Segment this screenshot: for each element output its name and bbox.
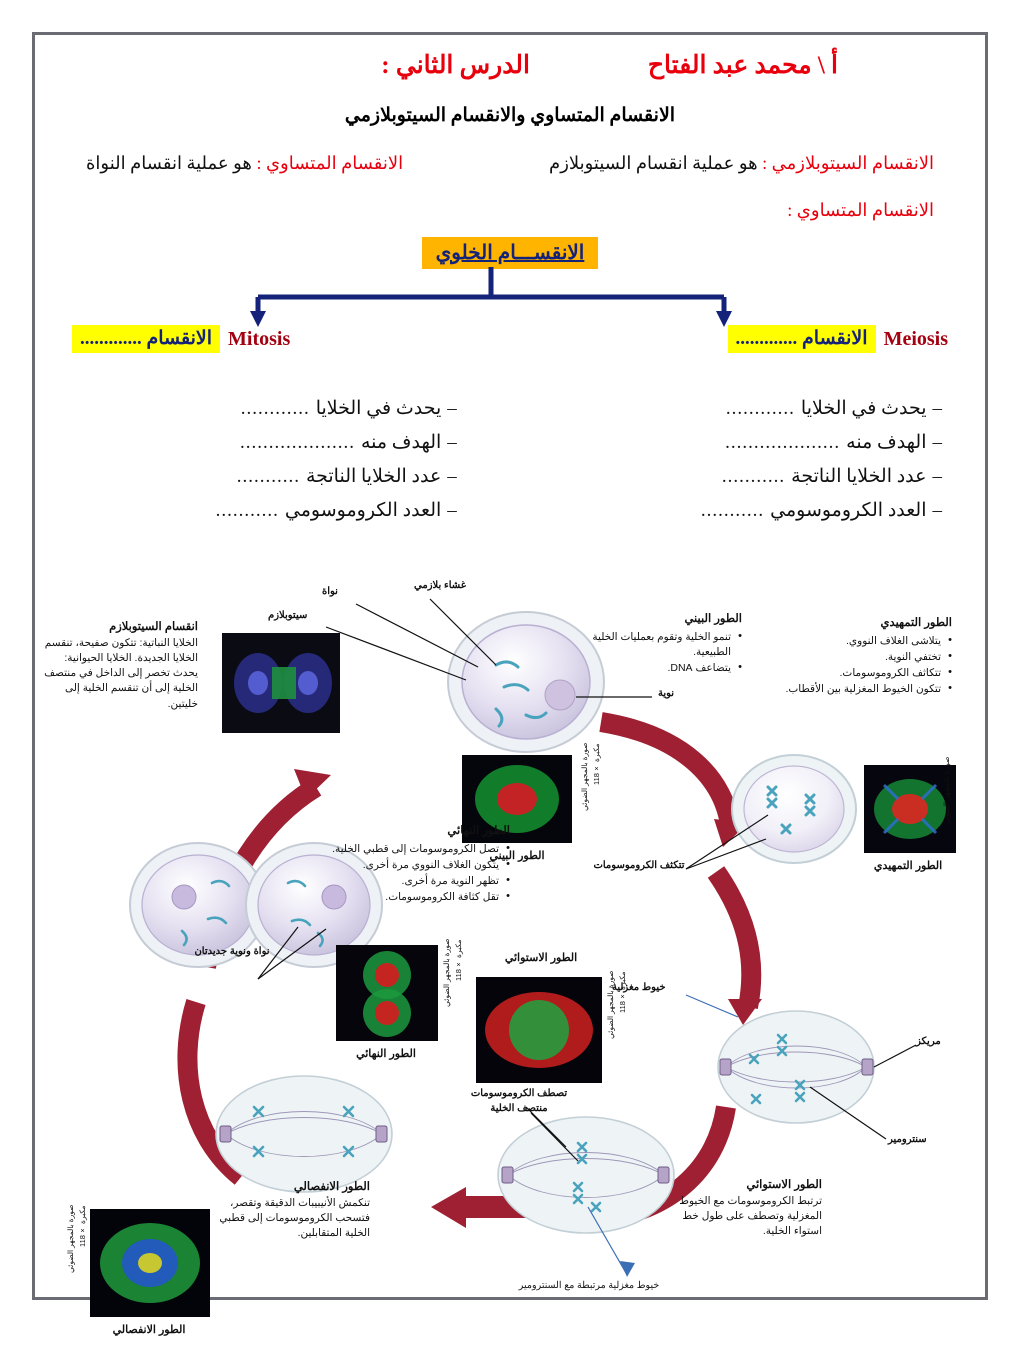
- list-label: عدد الخلايا الناتجة: [791, 465, 926, 488]
- list-blank: ...........: [722, 466, 785, 488]
- list-blank: ....................: [240, 432, 355, 454]
- anaphase-micrograph-frame: [90, 1209, 210, 1317]
- phase-cytokinesis-title: انقسام السيتوبلازم: [38, 619, 198, 636]
- anaphase-cell: [498, 1107, 674, 1277]
- worksheet-page: أ \ محمد عبد الفتاح الدرس الثاني : الانق…: [0, 0, 1020, 1320]
- label-cytoplasm: سيتوبلازم: [268, 609, 307, 624]
- list-item: – عدد الخلايا الناتجة ...........: [70, 465, 475, 488]
- list-label: العدد الكروموسومي: [285, 499, 441, 522]
- list-item: – يحدث في الخلايا ............: [545, 397, 950, 420]
- label-new-nuclei: نواة ونوية جديدتان: [186, 945, 278, 960]
- definition-cytokinesis-body: هو عملية انقسام السيتوبلازم: [549, 153, 758, 173]
- phase-bullet: تتكاثف الكروموسومات.: [756, 666, 952, 681]
- scale-note-anaphase: صورة بالمجهر الضوئي: [66, 1205, 77, 1313]
- section-heading: الانقسام المتساوي :: [64, 200, 956, 221]
- list-item: – الهدف منه ....................: [545, 431, 950, 454]
- scale-note-text: صورة بالمجهر الضوئي: [580, 743, 589, 811]
- scale-note-interphase: صورة بالمجهر الضوئي: [580, 743, 591, 843]
- label-spindle-attached: خيوط مغزلية مرتبطة مع السنترومير: [518, 1279, 660, 1293]
- flowchart-branch-mitosis-label: الانقسام .............: [72, 325, 220, 353]
- caption-anaphase: الطور الانفصالي: [88, 1323, 210, 1339]
- list-blank: ....................: [725, 432, 840, 454]
- flowchart-branch-meiosis-latin: Meiosis: [884, 328, 948, 351]
- list-label: العدد الكروموسومي: [770, 499, 926, 522]
- magnification-telophase: مكبرة ×118: [454, 939, 465, 1039]
- magnification-interphase: مكبرة ×118: [592, 743, 603, 843]
- phase-bullet: تختفي النوية.: [756, 650, 952, 665]
- scale-note-telophase: صورة بالمجهر الضوئي: [442, 939, 453, 1039]
- definition-mitosis-body: هو عملية انقسام النواة: [86, 153, 252, 173]
- caption-prophase: الطور التمهيدي: [860, 859, 956, 875]
- list-item: – عدد الخلايا الناتجة ...........: [545, 465, 950, 488]
- phase-prophase-title: الطور التمهيدي: [756, 615, 952, 632]
- teacher-name: أ \ محمد عبد الفتاح: [648, 50, 838, 80]
- phase-prophase: الطور التمهيدي يتلاشى الغلاف النووي. تخت…: [756, 615, 952, 699]
- flowchart-branch-meiosis: Meiosis الانقسام .............: [728, 325, 948, 353]
- caption-metaphase: الطور الاستوائي: [482, 951, 600, 967]
- label-nucleus: نواة: [322, 585, 338, 600]
- list-item: – العدد الكروموسومي ...........: [70, 499, 475, 522]
- list-dash: –: [933, 432, 943, 454]
- flowchart-branch-meiosis-label: الانقسام .............: [728, 325, 876, 353]
- phase-cytokinesis: انقسام السيتوبلازم الخلايا النباتية: تتك…: [38, 619, 198, 712]
- phase-anaphase-title: الطور الانفصالي: [212, 1179, 370, 1196]
- phase-interphase-title: الطور البيني: [592, 611, 742, 628]
- cell-cycle-diagram: غشاء بلازمي نواة سيتوبلازم نوية الطور ال…: [26, 547, 956, 1347]
- phase-bullet: يتضاعف DNA.: [592, 661, 742, 676]
- label-nucleolus: نوية: [658, 687, 674, 702]
- subject-title: الانقسام المتساوي والانقسام السيتوبلازمي: [64, 104, 956, 127]
- comparison-column-meiosis: – يحدث في الخلايا ............ – الهدف م…: [545, 397, 950, 533]
- scale-note-metaphase: صورة بالمجهر الضوئي: [606, 971, 617, 1075]
- metaphase-micrograph-frame: [476, 977, 602, 1083]
- list-dash: –: [933, 398, 943, 420]
- flowchart-branch-mitosis: Mitosis الانقسام .............: [72, 325, 290, 353]
- label-centriole: مريكز: [916, 1035, 941, 1050]
- list-label: الهدف منه: [361, 431, 441, 454]
- lesson-title: الدرس الثاني :: [381, 50, 530, 80]
- list-dash: –: [447, 500, 457, 522]
- list-item: – يحدث في الخلايا ............: [70, 397, 475, 420]
- flowchart-connectors: [26, 267, 956, 329]
- magnification-anaphase: مكبرة ×118: [78, 1205, 89, 1313]
- definition-mitosis: الانقسام المتساوي : هو عملية انقسام النو…: [86, 153, 403, 174]
- list-dash: –: [447, 466, 457, 488]
- phase-interphase-body: تنمو الخلية وتقوم بعمليات الخلية الطبيعي…: [592, 630, 742, 677]
- header: أ \ محمد عبد الفتاح الدرس الثاني :: [64, 50, 956, 80]
- interphase-cell: [448, 612, 604, 752]
- caption-telophase: الطور النهائي: [334, 1047, 438, 1063]
- phase-metaphase-body: ترتبط الكروموسومات مع الخيوط المغزلية وت…: [658, 1194, 822, 1240]
- flowchart-branch-mitosis-latin: Mitosis: [228, 328, 290, 351]
- list-item: – الهدف منه ....................: [70, 431, 475, 454]
- phase-anaphase: الطور الانفصالي تنكمش الأنيبيبات الدقيقة…: [212, 1179, 370, 1241]
- telophase-micrograph-frame: [336, 945, 438, 1041]
- phase-bullet: تقل كثافة الكروموسومات.: [324, 890, 510, 905]
- list-blank: ............: [241, 398, 310, 420]
- phase-cytokinesis-body: الخلايا النباتية: تتكون صفيحة، تنقسم الخ…: [38, 636, 198, 712]
- list-label: يحدث في الخلايا: [801, 397, 927, 420]
- list-label: الهدف منه: [846, 431, 926, 454]
- list-blank: ............: [726, 398, 795, 420]
- definition-cytokinesis-term: الانقسام السيتوبلازمي :: [762, 153, 934, 173]
- list-blank: ...........: [216, 500, 279, 522]
- label-chromosomes-align: تصطف الكروموسومات منتصف الخلية: [458, 1087, 580, 1116]
- list-blank: ...........: [237, 466, 300, 488]
- list-label: يحدث في الخلايا: [316, 397, 442, 420]
- definition-cytokinesis: الانقسام السيتوبلازمي : هو عملية انقسام …: [549, 153, 934, 174]
- phase-bullet: تنمو الخلية وتقوم بعمليات الخلية الطبيعي…: [592, 630, 742, 660]
- flowchart: الانقســـام الخلوي Meiosis الانقسام ....…: [64, 237, 956, 387]
- scale-note-prophase: صورة بالمجهر الضوئي: [942, 757, 953, 853]
- cytokinesis-micrograph-frame: [222, 633, 340, 733]
- list-label: عدد الخلايا الناتجة: [306, 465, 441, 488]
- magnification-metaphase: مكبرة ×118: [618, 971, 629, 1075]
- phase-bullet: تتكون الخيوط المغزلية بين الأقطاب.: [756, 682, 952, 697]
- list-item: – العدد الكروموسومي ...........: [545, 499, 950, 522]
- caption-interphase: الطور البيني: [464, 849, 570, 865]
- phase-bullet: تظهر النوية مرة أخرى.: [324, 874, 510, 889]
- label-plasma-membrane: غشاء بلازمي: [414, 579, 466, 594]
- label-centromere: سنترومير: [888, 1133, 927, 1148]
- definitions-row: الانقسام السيتوبلازمي : هو عملية انقسام …: [64, 153, 956, 174]
- comparison-lists: – يحدث في الخلايا ............ – الهدف م…: [64, 397, 956, 533]
- phase-interphase: الطور البيني تنمو الخلية وتقوم بعمليات ا…: [592, 611, 742, 677]
- list-dash: –: [933, 466, 943, 488]
- label-chromosomes-condense: تتكثف الكروموسومات: [586, 859, 692, 874]
- comparison-column-mitosis: – يحدث في الخلايا ............ – الهدف م…: [70, 397, 475, 533]
- phase-prophase-body: يتلاشى الغلاف النووي. تختفي النوية. تتكا…: [756, 634, 952, 698]
- flowchart-root-label: الانقســـام الخلوي: [422, 237, 599, 269]
- phase-metaphase: الطور الاستوائي ترتبط الكروموسومات مع ال…: [658, 1177, 822, 1239]
- page-content: أ \ محمد عبد الفتاح الدرس الثاني : الانق…: [38, 34, 982, 1347]
- list-dash: –: [447, 398, 457, 420]
- phase-metaphase-title: الطور الاستوائي: [658, 1177, 822, 1194]
- phase-anaphase-body: تنكمش الأنيبيبات الدقيقة وتقصر، فتسحب ال…: [212, 1196, 370, 1242]
- list-dash: –: [447, 432, 457, 454]
- definition-mitosis-term: الانقسام المتساوي :: [256, 153, 403, 173]
- phase-bullet: يتلاشى الغلاف النووي.: [756, 634, 952, 649]
- list-blank: ...........: [701, 500, 764, 522]
- anaphase-separation-cell: [216, 1076, 392, 1192]
- phase-telophase-title: الطور النهائي: [324, 823, 510, 840]
- list-dash: –: [933, 500, 943, 522]
